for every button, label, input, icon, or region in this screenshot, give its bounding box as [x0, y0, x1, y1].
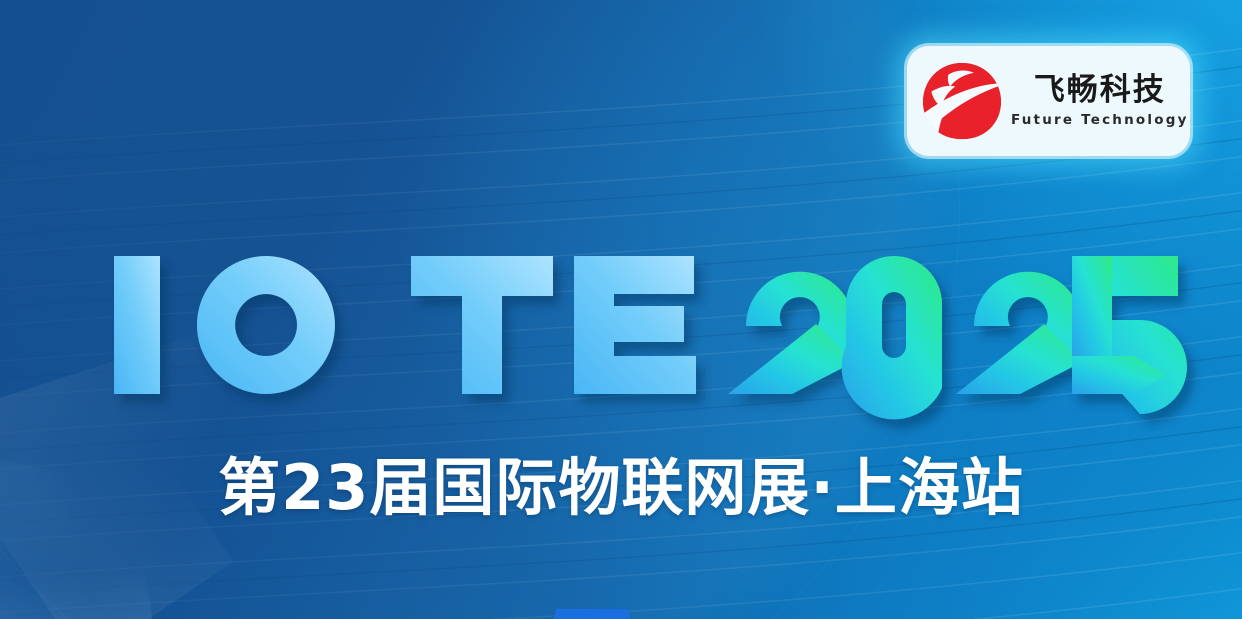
wordmark-iote-letters — [114, 256, 696, 394]
wordmark-year-digits — [728, 256, 1187, 419]
logo-chinese-name: 飞畅科技 — [1034, 74, 1166, 107]
feichang-flame-icon — [919, 61, 1005, 141]
logo-text-block: 飞畅科技 Future Technology — [1011, 74, 1189, 129]
background-facet-bottom — [0, 531, 158, 619]
iote-2025-wordmark — [106, 238, 1106, 410]
sponsor-logo-badge[interactable]: 飞畅科技 Future Technology — [907, 46, 1190, 156]
bottom-edge-chip — [553, 609, 631, 619]
iote-2025-event-banner: 飞畅科技 Future Technology — [0, 0, 1242, 619]
event-subtitle: 第23届国际物联网展·上海站 — [0, 455, 1242, 520]
logo-english-name: Future Technology — [1011, 112, 1189, 128]
